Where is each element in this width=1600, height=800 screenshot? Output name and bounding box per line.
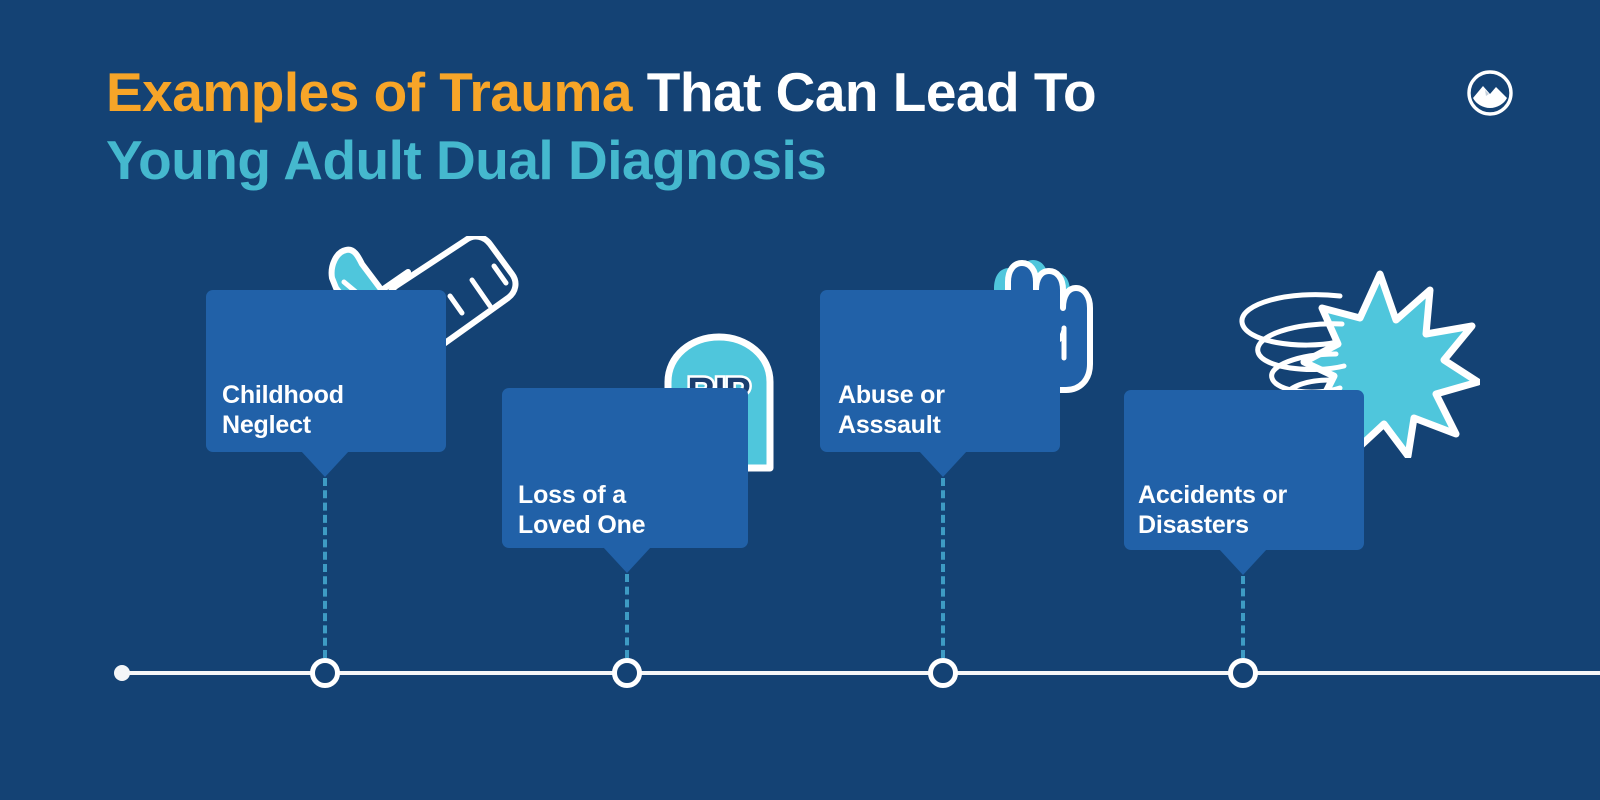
title-highlight: Examples of Trauma xyxy=(106,61,632,123)
connector-loss-of-a-loved-one xyxy=(625,574,629,658)
card-tail-accidents-or-disasters xyxy=(1219,549,1267,575)
timeline-start-dot xyxy=(114,665,130,681)
card-tail-loss-of-a-loved-one xyxy=(603,547,651,573)
timeline-axis xyxy=(118,671,1600,675)
infographic-canvas: Examples of Trauma That Can Lead To Youn… xyxy=(0,0,1600,800)
card-tail-abuse-or-assault xyxy=(919,451,967,477)
connector-accidents-or-disasters xyxy=(1241,576,1245,658)
connector-abuse-or-assault xyxy=(941,478,945,658)
card-label-accidents-or-disasters: Accidents or Disasters xyxy=(1138,480,1368,540)
card-tail-childhood-neglect xyxy=(301,451,349,477)
connector-childhood-neglect xyxy=(323,478,327,658)
title-line-1: Examples of Trauma That Can Lead To xyxy=(106,58,1406,126)
title-rest: That Can Lead To xyxy=(647,61,1096,123)
mountain-circle-logo-icon[interactable] xyxy=(1466,69,1514,117)
timeline-node-2[interactable] xyxy=(612,658,642,688)
timeline-node-4[interactable] xyxy=(1228,658,1258,688)
card-label-childhood-neglect: Childhood Neglect xyxy=(222,380,432,440)
card-label-abuse-or-assault: Abuse or Asssault xyxy=(838,380,1048,440)
timeline-node-1[interactable] xyxy=(310,658,340,688)
page-title: Examples of Trauma That Can Lead To Youn… xyxy=(106,58,1406,194)
timeline-node-3[interactable] xyxy=(928,658,958,688)
title-line-2: Young Adult Dual Diagnosis xyxy=(106,126,1406,194)
card-label-loss-of-a-loved-one: Loss of a Loved One xyxy=(518,480,738,540)
